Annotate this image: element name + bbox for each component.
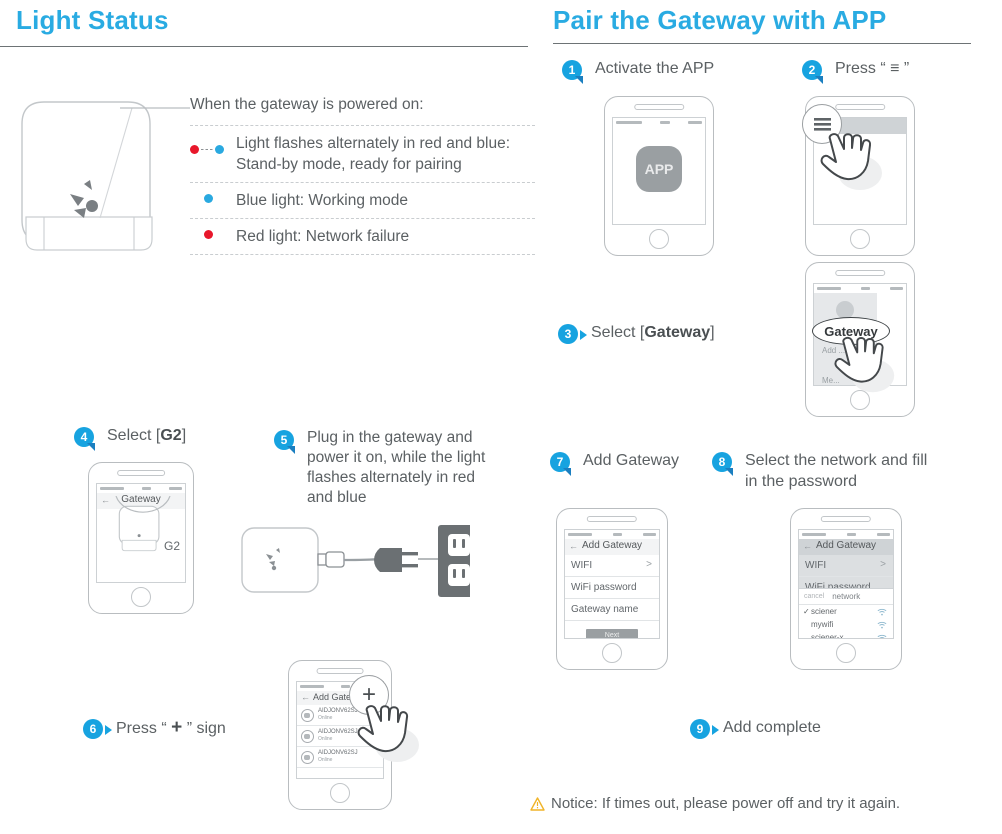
pointing-hand-icon [351, 697, 429, 769]
next-button[interactable]: Next [586, 629, 638, 639]
step-9-badge: 9 [690, 719, 710, 739]
sheet-title: network [832, 592, 860, 601]
network-item[interactable]: mywifi [799, 618, 893, 631]
step-3-label-post: ] [710, 324, 714, 341]
step-6-label-pre: Press “ [116, 720, 167, 737]
statusbar-clock [613, 533, 622, 536]
phone-speaker [317, 668, 364, 674]
light-status-list: Light flashes alternately in red and blu… [190, 125, 535, 255]
light-status-row-text: Light flashes alternately in red and blu… [236, 135, 510, 173]
pointing-hand-icon [828, 329, 904, 399]
wifi-icon [877, 608, 887, 616]
phone-mockup-step-6: ← Add Gateway AIDJONV62SJ Online AIDJONV… [288, 660, 392, 810]
statusbar-battery [169, 487, 182, 490]
step-4-badge: 4 [74, 427, 94, 447]
statusbar-clock [341, 685, 350, 688]
light-status-row: Red light: Network failure [190, 218, 535, 255]
step-8: 8 Select the network and fill in the pas… [712, 450, 962, 492]
phone-mockup-step-1: APP [604, 96, 714, 256]
phone-screen: ← Add Gateway WIFI > WiFi password Gatew… [564, 529, 660, 639]
device-avatar-icon [301, 709, 314, 722]
statusbar-clock [847, 533, 856, 536]
device-label: G2 [164, 539, 180, 553]
statusbar-clock [660, 121, 670, 124]
phone-mockup-step-7: ← Add Gateway WIFI > WiFi password Gatew… [556, 508, 668, 670]
step-3: 3 Select [Gateway] [558, 322, 715, 344]
phone-appbar: ← Add Gateway [799, 539, 893, 555]
gateway-arc-highlight [114, 496, 172, 518]
alternating-arrow-icon [201, 147, 215, 152]
instruction-sheet: Light Status When the gateway is powered… [0, 0, 1002, 834]
appbar-title: Add Gateway [799, 540, 893, 551]
phone-statusbar [97, 484, 185, 493]
step-6: 6 Press “ + ” sign [83, 717, 226, 739]
led-red-dot [190, 145, 199, 154]
light-status-intro: When the gateway is powered on: [190, 96, 424, 114]
device-avatar-icon [301, 730, 314, 743]
step-4-label-bold: G2 [160, 427, 181, 444]
phone-appbar: ← Add Gateway [565, 539, 659, 555]
phone-speaker [634, 104, 684, 110]
phone-mockup-step-8: ← Add Gateway WIFI > WiFi password cance… [790, 508, 902, 670]
statusbar-battery [877, 533, 890, 536]
light-status-title: Light Status [16, 5, 169, 36]
step-6-badge: 6 [83, 719, 103, 739]
field-wifi[interactable]: WIFI > [799, 555, 893, 577]
pair-gateway-title: Pair the Gateway with APP [553, 5, 886, 36]
step-7-label: Add Gateway [583, 450, 679, 471]
statusbar-carrier [568, 533, 592, 536]
phone-speaker [587, 516, 637, 522]
step-3-label-bold: Gateway [644, 324, 710, 341]
led-blue-dot [215, 145, 224, 154]
step-9: 9 Add complete [690, 717, 821, 739]
light-status-divider [0, 46, 528, 47]
statusbar-carrier [616, 121, 642, 124]
field-label: Gateway name [571, 604, 638, 615]
step-4-label: Select [G2] [107, 425, 186, 446]
cancel-button[interactable]: cancel [804, 593, 824, 600]
pointing-hand-icon [814, 125, 892, 197]
step-4-label-pre: Select [ [107, 427, 160, 444]
statusbar-carrier [817, 287, 841, 290]
phone-home-button [836, 643, 856, 663]
phone-screen: APP [612, 117, 706, 225]
step-1-badge: 1 [562, 60, 582, 80]
plug-illustration [240, 520, 470, 605]
sheet-header: cancel network [799, 589, 893, 605]
step-6-label-post: ” sign [187, 720, 226, 737]
statusbar-carrier [100, 487, 124, 490]
step-8-label: Select the network and fill in the passw… [745, 450, 927, 492]
step-2-label: Press “ ≡ ” [835, 58, 909, 79]
step-7: 7 Add Gateway [550, 450, 679, 472]
network-item[interactable]: ✓sciener [799, 605, 893, 618]
network-ssid: mywifi [811, 620, 833, 629]
statusbar-carrier [802, 533, 826, 536]
appbar-title: Add Gateway [565, 540, 659, 551]
statusbar-carrier [300, 685, 324, 688]
step-2: 2 Press “ ≡ ” [802, 58, 909, 80]
light-status-row: Blue light: Working mode [190, 182, 535, 218]
field-gateway-name[interactable]: Gateway name [565, 599, 659, 621]
phone-mockup-step-3: Add ... Me... Cust... setting... Gateway [805, 262, 915, 417]
step-3-label: Select [Gateway] [591, 322, 715, 343]
statusbar-clock [142, 487, 151, 490]
phone-statusbar [814, 284, 906, 293]
phone-speaker [821, 516, 871, 522]
step-5-badge: 5 [274, 430, 294, 450]
app-icon[interactable]: APP [636, 146, 682, 192]
light-status-row-text: Blue light: Working mode [236, 192, 408, 209]
network-item[interactable]: sciener-x [799, 631, 893, 639]
step-3-badge: 3 [558, 324, 578, 344]
phone-statusbar [613, 118, 705, 127]
notice: Notice: If times out, please power off a… [530, 795, 900, 812]
led-red-dot [204, 230, 213, 239]
field-wifi-password[interactable]: WiFi password [565, 577, 659, 599]
pair-gateway-divider [553, 43, 971, 44]
network-ssid: sciener [811, 607, 837, 616]
phone-home-button [649, 229, 669, 249]
phone-home-button [131, 587, 151, 607]
wifi-icon [877, 621, 887, 629]
step-3-label-pre: Select [ [591, 324, 644, 341]
checkmark-placeholder [803, 633, 811, 639]
phone-home-button [602, 643, 622, 663]
checkmark-placeholder [803, 620, 811, 629]
step-8-badge: 8 [712, 452, 732, 472]
plus-icon: + [171, 717, 182, 738]
wifi-icon [877, 634, 887, 639]
step-1: 1 Activate the APP [562, 58, 714, 80]
warning-triangle-icon [530, 797, 545, 811]
phone-home-button [850, 229, 870, 249]
field-label: WIFI [805, 560, 826, 571]
phone-mockup-step-2 [805, 96, 915, 256]
step-4: 4 Select [G2] [74, 425, 186, 447]
phone-mockup-step-4: ← Gateway G2 [88, 462, 194, 614]
step-5: 5 Plug in the gateway and power it on, w… [274, 428, 494, 508]
statusbar-battery [643, 533, 656, 536]
phone-speaker [835, 270, 885, 276]
callout-leader-line [120, 100, 200, 120]
phone-statusbar [799, 530, 893, 539]
light-status-row-text: Red light: Network failure [236, 228, 409, 245]
step-1-label: Activate the APP [595, 58, 714, 79]
chevron-right-icon: > [646, 559, 652, 570]
phone-speaker [835, 104, 885, 110]
chevron-right-icon: > [880, 559, 886, 570]
step-7-badge: 7 [550, 452, 570, 472]
field-label: WIFI [571, 560, 592, 571]
network-ssid: sciener-x [811, 633, 843, 639]
led-blue-dot [204, 194, 213, 203]
field-label: WiFi password [571, 582, 637, 593]
step-6-label: Press “ + ” sign [116, 717, 226, 739]
notice-text: Notice: If times out, please power off a… [551, 795, 900, 812]
field-wifi[interactable]: WIFI > [565, 555, 659, 577]
phone-screen: ← Add Gateway WIFI > WiFi password cance… [798, 529, 894, 639]
statusbar-clock [861, 287, 870, 290]
network-picker-sheet: cancel network ✓sciener mywifi [799, 588, 893, 638]
light-status-row: Light flashes alternately in red and blu… [190, 125, 535, 182]
statusbar-battery [688, 121, 702, 124]
phone-statusbar [565, 530, 659, 539]
step-5-label: Plug in the gateway and power it on, whi… [307, 428, 485, 508]
device-avatar-icon [301, 751, 314, 764]
step-9-label: Add complete [723, 717, 821, 738]
step-2-badge: 2 [802, 60, 822, 80]
phone-home-button [330, 783, 350, 803]
step-4-label-post: ] [182, 427, 186, 444]
phone-speaker [117, 470, 165, 476]
checkmark-icon: ✓ [803, 607, 811, 616]
statusbar-battery [890, 287, 903, 290]
